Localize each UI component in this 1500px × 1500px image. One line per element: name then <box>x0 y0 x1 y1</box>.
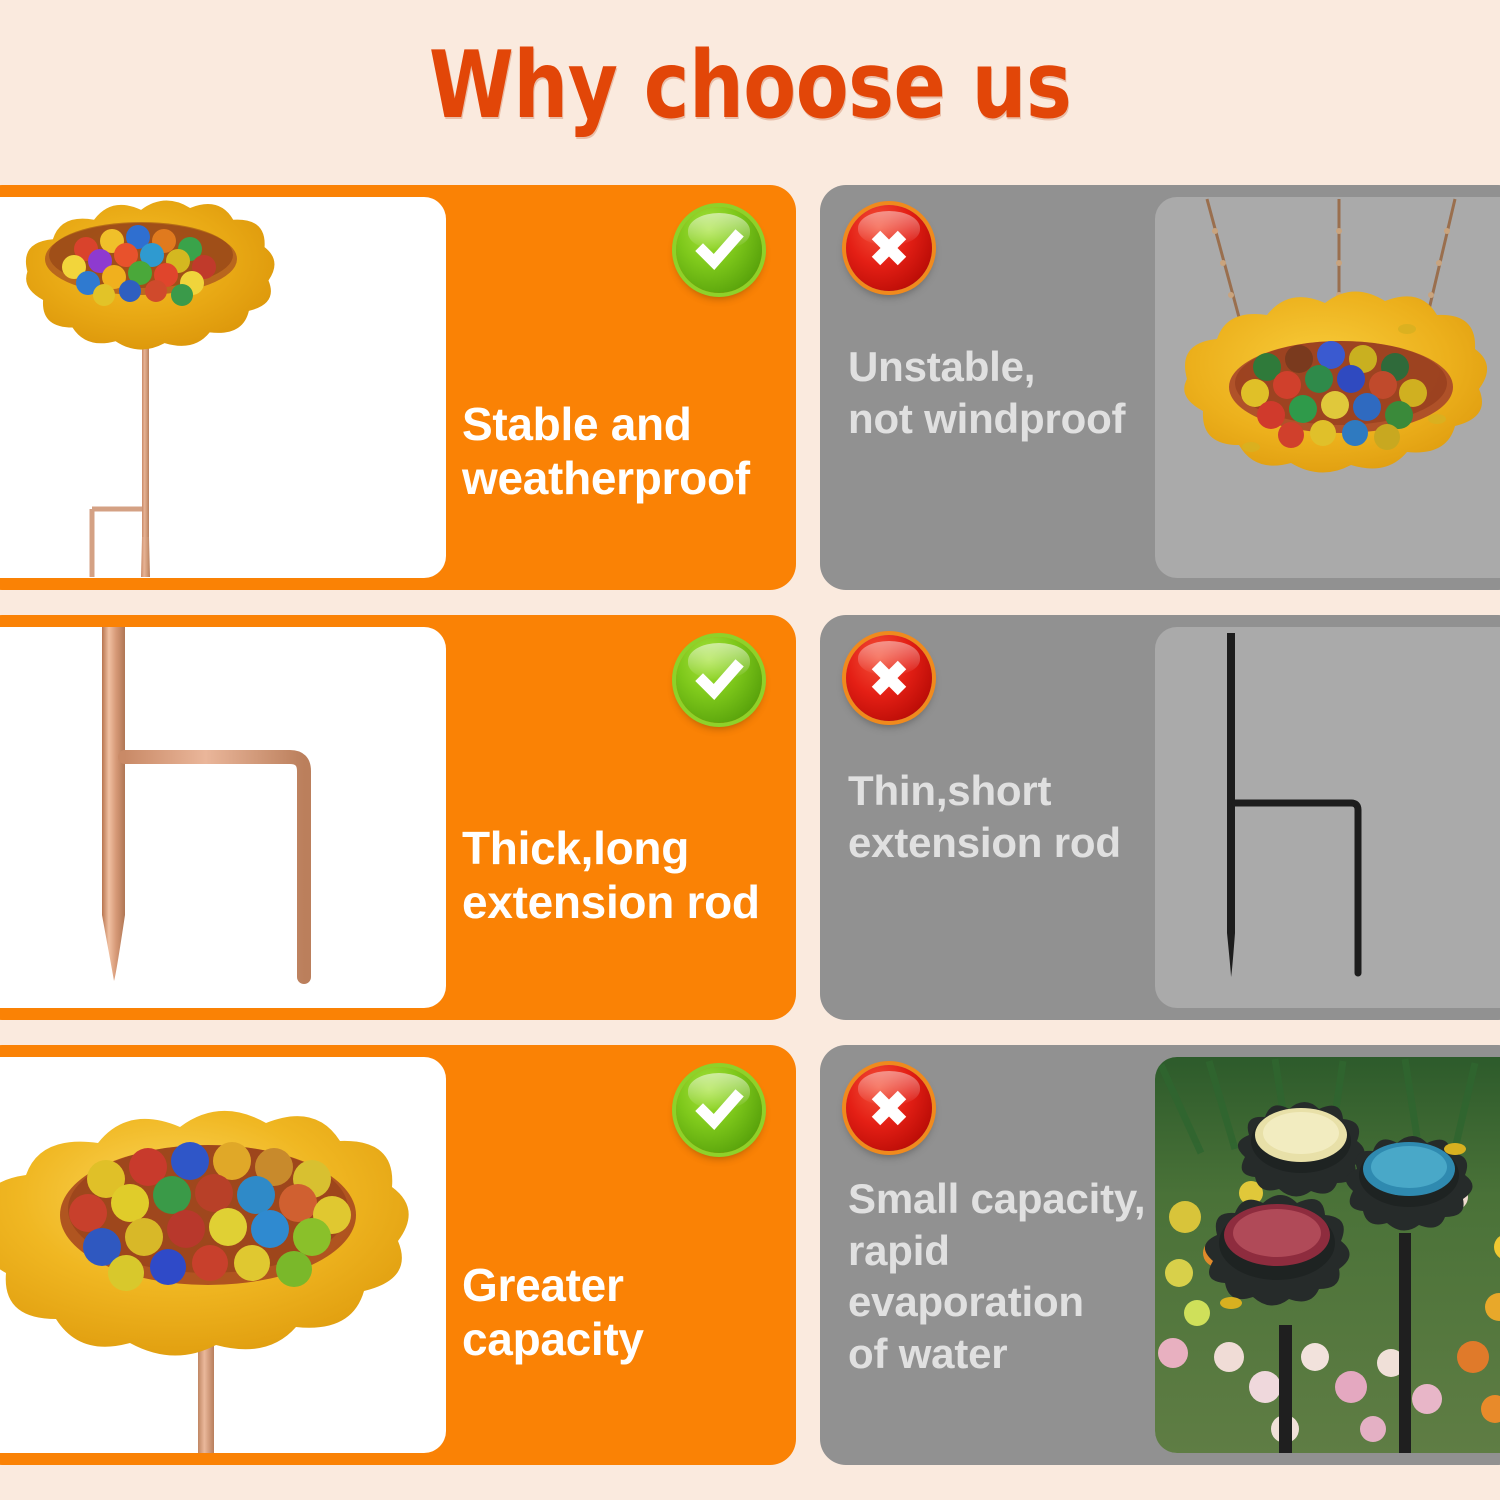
con-image-3 <box>1155 1057 1500 1453</box>
con-label-3-line-4: of water <box>848 1328 1148 1380</box>
con-label-3-line-3: evaporation <box>848 1276 1148 1328</box>
check-glyph <box>676 207 762 293</box>
bird-bath-stake-illustration <box>0 197 446 578</box>
comparison-row-2: Thick,long extension rod Thin,short <box>0 615 1500 1020</box>
header: Why choose us <box>0 0 1500 170</box>
pro-label-3: Greater capacity <box>462 1258 792 1367</box>
pro-label-2-line-1: Thick,long <box>462 821 792 875</box>
con-label-1-line-2: not windproof <box>848 393 1148 445</box>
infographic-page: Why choose us <box>0 0 1500 1500</box>
check-circle-icon <box>676 207 762 293</box>
cross-glyph <box>846 635 932 721</box>
pro-label-2: Thick,long extension rod <box>462 821 792 930</box>
pro-label-3-line-1: Greater <box>462 1258 792 1312</box>
con-image-2 <box>1155 627 1500 1008</box>
pro-label-1-line-2: weatherproof <box>462 451 792 505</box>
pro-label-1: Stable and weatherproof <box>462 397 792 506</box>
cross-circle-icon <box>846 205 932 291</box>
pro-label-1-line-1: Stable and <box>462 397 792 451</box>
con-image-1 <box>1155 197 1500 578</box>
thick-copper-rod-illustration <box>0 627 446 1008</box>
cross-circle-icon <box>846 1065 932 1151</box>
con-label-3-line-2: rapid <box>848 1225 1148 1277</box>
check-circle-icon <box>676 637 762 723</box>
thin-black-rod-illustration <box>1155 627 1500 1008</box>
con-label-3: Small capacity, rapid evaporation of wat… <box>848 1173 1148 1380</box>
pro-image-2 <box>0 627 446 1008</box>
check-circle-icon <box>676 1067 762 1153</box>
page-title: Why choose us <box>429 31 1071 139</box>
hanging-bird-bath-illustration <box>1155 197 1500 578</box>
con-label-1-line-1: Unstable, <box>848 341 1148 393</box>
marble-filled-dish-illustration <box>0 1057 446 1453</box>
con-label-3-line-1: Small capacity, <box>848 1173 1148 1225</box>
con-label-2: Thin,short extension rod <box>848 765 1148 868</box>
comparison-row-1: Stable and weatherproof <box>0 185 1500 590</box>
pro-image-1 <box>0 197 446 578</box>
comparison-row-3: Greater capacity <box>0 1045 1500 1465</box>
cross-glyph <box>846 1065 932 1151</box>
cross-circle-icon <box>846 635 932 721</box>
cross-glyph <box>846 205 932 291</box>
con-label-2-line-2: extension rod <box>848 817 1148 869</box>
garden-photo-illustration <box>1155 1057 1500 1453</box>
check-glyph <box>676 1067 762 1153</box>
pro-label-2-line-2: extension rod <box>462 875 792 929</box>
con-label-2-line-1: Thin,short <box>848 765 1148 817</box>
check-glyph <box>676 637 762 723</box>
pro-label-3-line-2: capacity <box>462 1312 792 1366</box>
pro-image-3 <box>0 1057 446 1453</box>
con-label-1: Unstable, not windproof <box>848 341 1148 444</box>
